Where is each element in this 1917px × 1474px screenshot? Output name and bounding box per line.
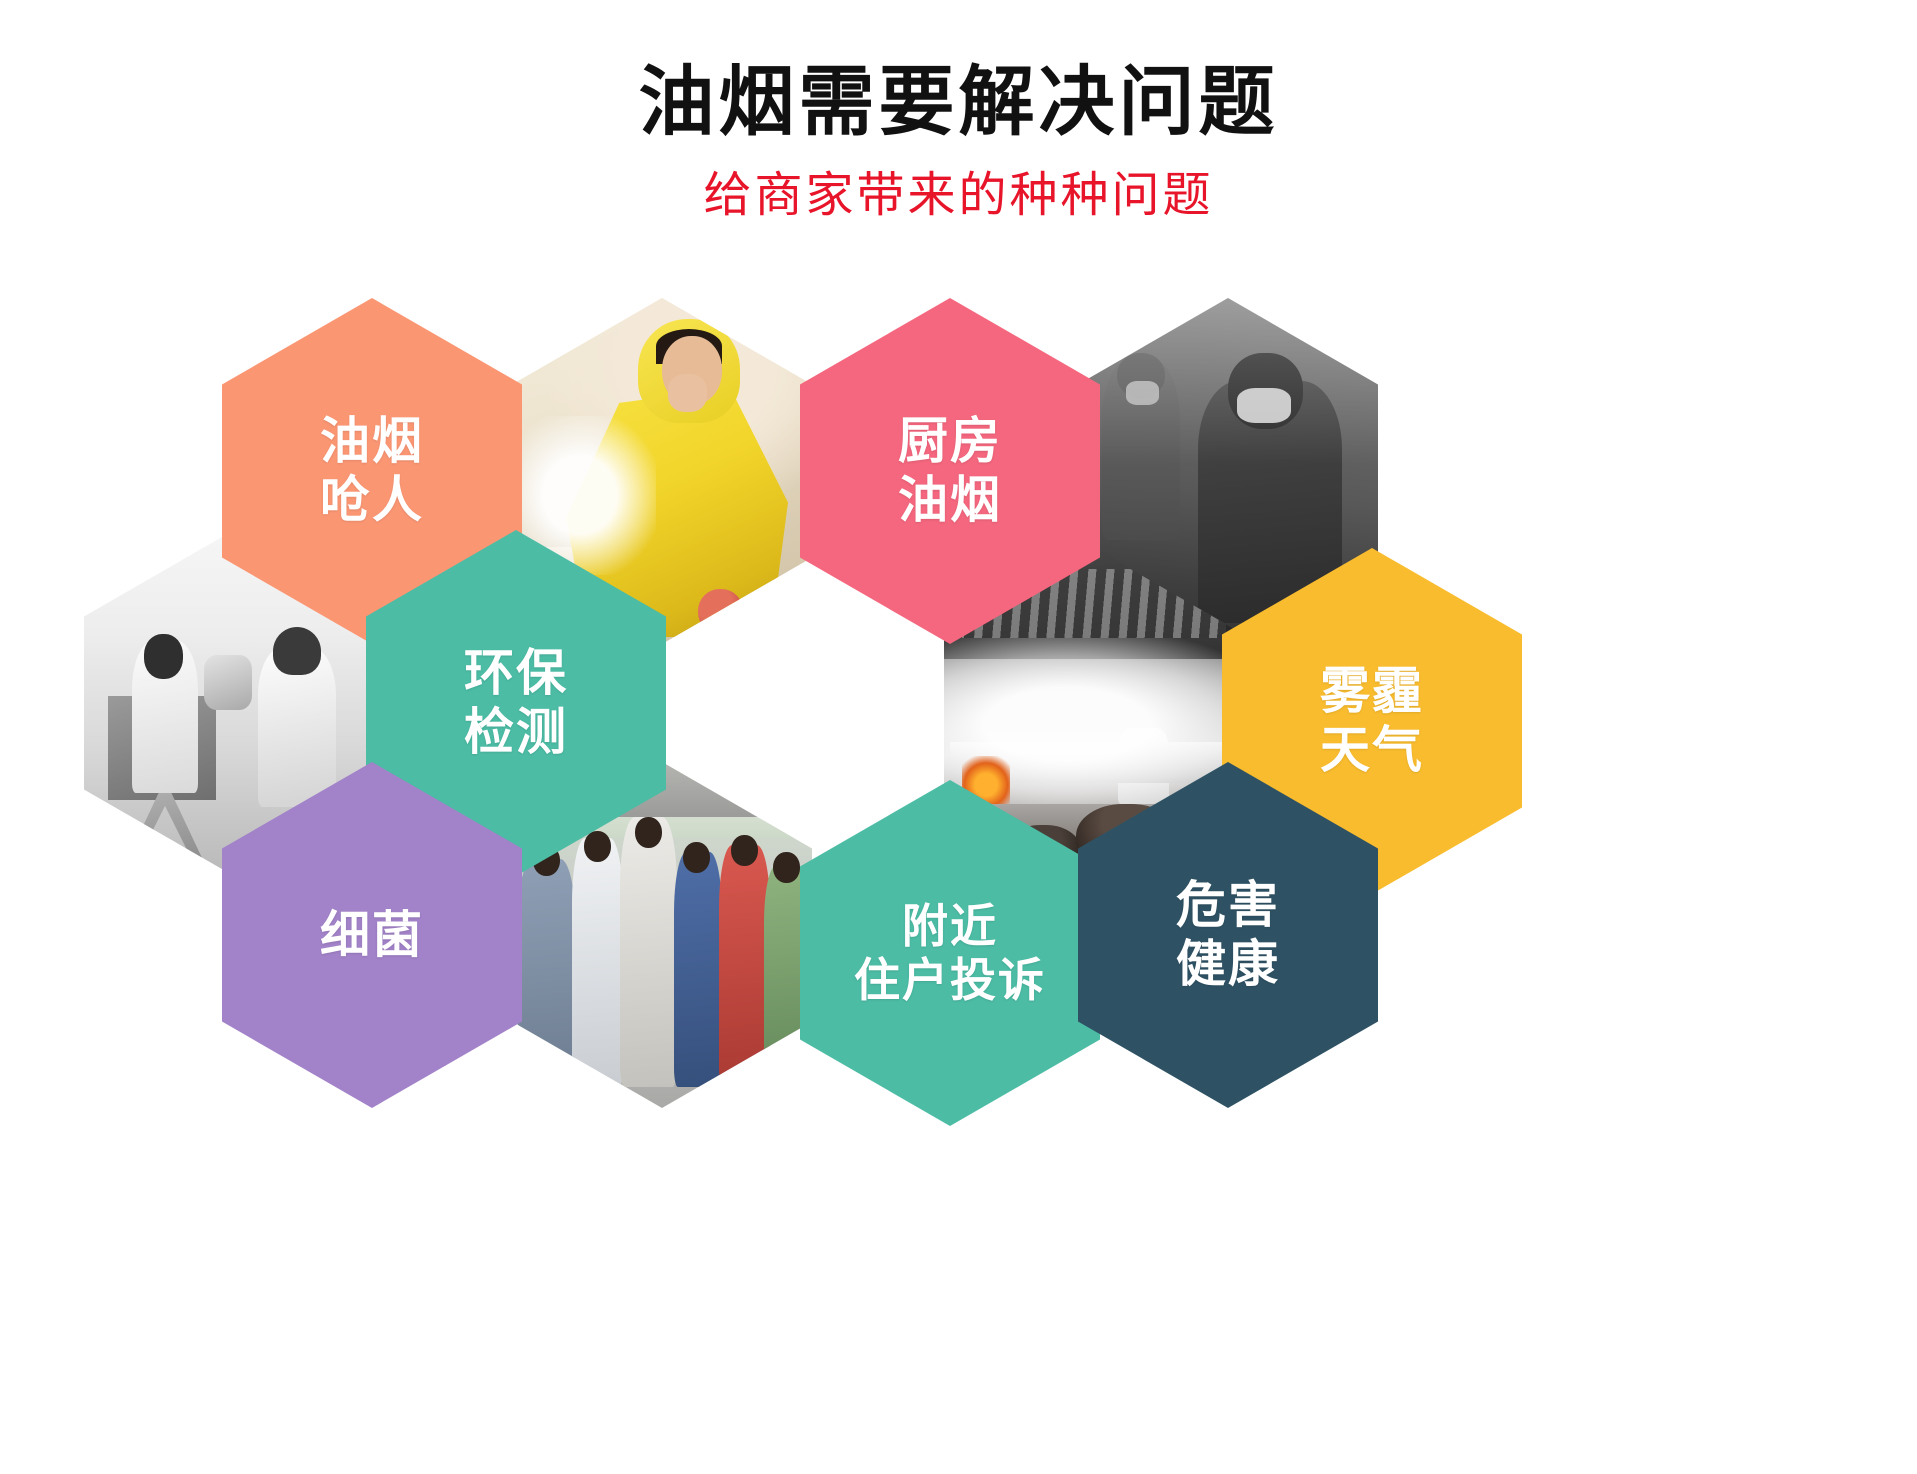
hexagon-label-neighbor-complain: 附近 住户投诉 [854,899,1046,1008]
hexagon-grid: 油烟 呛人厨房 油烟环保 检测雾霾 天气细菌附近 住户投诉危害 健康 [0,0,1917,1474]
infographic-canvas: 油烟需要解决问题 给商家带来的种种问题 油烟 呛人厨房 油烟环保 检测雾霾 天气… [0,0,1917,1474]
hexagon-label-kitchen-smoke: 厨房 油烟 [898,412,1002,530]
hexagon-label-env-inspection: 环保 检测 [464,644,568,762]
hexagon-label-haze-weather: 雾霾 天气 [1320,662,1424,780]
hexagon-label-oil-smoke-choking: 油烟 呛人 [320,412,424,530]
hexagon-label-health-harm: 危害 健康 [1176,876,1280,994]
hexagon-label-bacteria: 细菌 [320,906,424,965]
